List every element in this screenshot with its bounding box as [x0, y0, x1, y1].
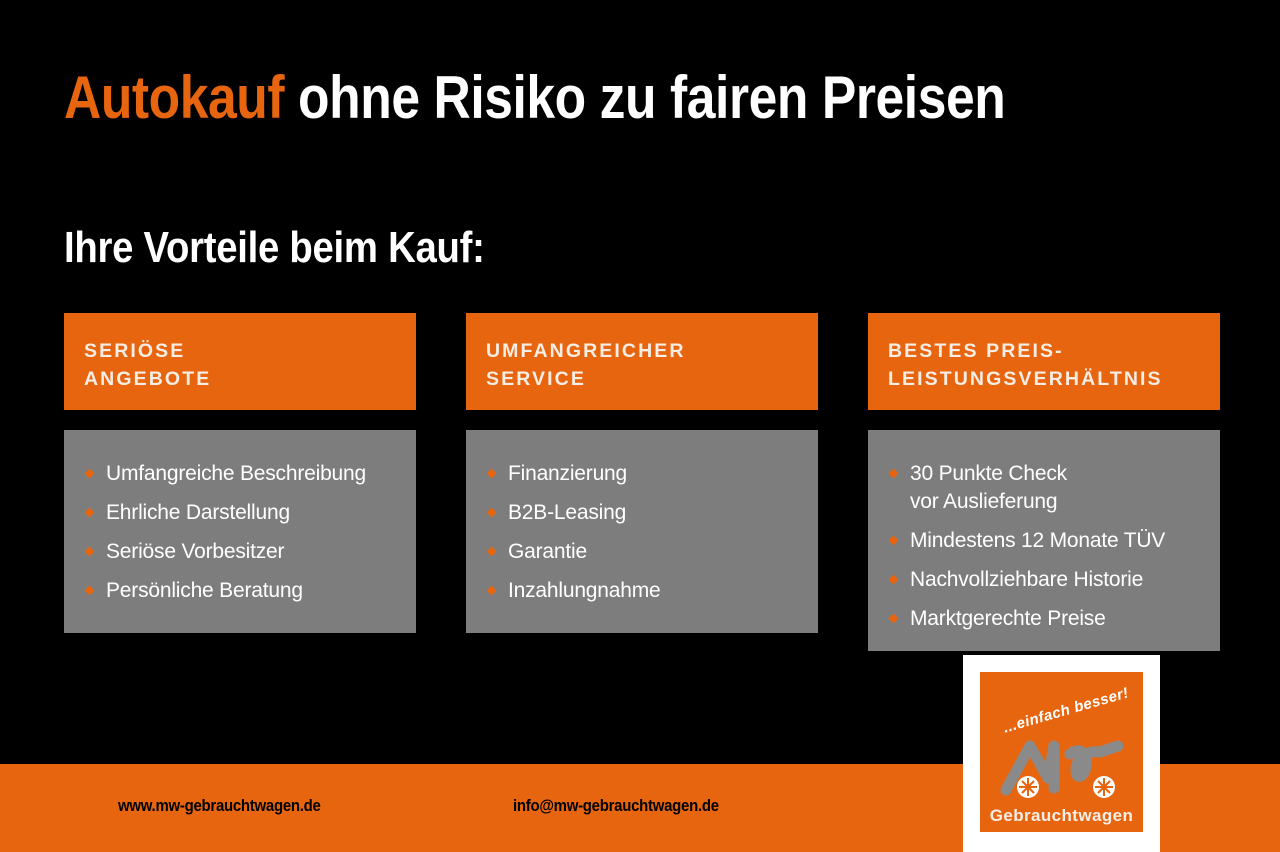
list-item: Garantie [488, 538, 802, 566]
benefit-list: 30 Punkte Check vor Auslieferung Mindest… [890, 460, 1204, 633]
list-item-label: Ehrliche Darstellung [106, 501, 290, 524]
card-body-preis-leistung: 30 Punkte Check vor Auslieferung Mindest… [868, 430, 1220, 651]
card-header-title: BESTES PREIS- LEISTUNGSVERHÄLTNIS [888, 337, 1200, 394]
card-header-umfangreicher-service: UMFANGREICHER SERVICE [466, 313, 818, 410]
logo-inner-panel: ...einfach besser! [980, 672, 1143, 832]
diamond-bullet-icon [487, 546, 497, 556]
list-item: Nachvollziehbare Historie [890, 566, 1204, 594]
promo-banner: Autokauf ohne Risiko zu fairen Preisen I… [0, 0, 1280, 852]
diamond-bullet-icon [85, 585, 95, 595]
card-body-umfangreicher-service: Finanzierung B2B-Leasing Garantie Inzahl… [466, 430, 818, 633]
list-item-label: Garantie [508, 540, 587, 563]
list-item-label: Marktgerechte Preise [910, 607, 1106, 630]
list-item: Mindestens 12 Monate TÜV [890, 527, 1204, 555]
list-item: Persönliche Beratung [86, 577, 400, 605]
diamond-bullet-icon [889, 613, 899, 623]
card-header-title: SERIÖSE ANGEBOTE [84, 337, 396, 394]
diamond-bullet-icon [889, 535, 899, 545]
diamond-bullet-icon [487, 507, 497, 517]
list-item: Ehrliche Darstellung [86, 499, 400, 527]
benefit-list: Umfangreiche Beschreibung Ehrliche Darst… [86, 460, 400, 605]
benefit-column-serioese-angebote: SERIÖSE ANGEBOTE Umfangreiche Beschreibu… [64, 313, 416, 651]
list-item: 30 Punkte Check vor Auslieferung [890, 460, 1204, 516]
list-item: B2B-Leasing [488, 499, 802, 527]
list-item: Umfangreiche Beschreibung [86, 460, 400, 488]
card-body-serioese-angebote: Umfangreiche Beschreibung Ehrliche Darst… [64, 430, 416, 633]
list-item-label: Nachvollziehbare Historie [910, 568, 1143, 591]
company-logo: ...einfach besser! [963, 655, 1160, 852]
diamond-bullet-icon [889, 469, 899, 479]
list-item-label: Seriöse Vorbesitzer [106, 540, 284, 563]
card-header-title: UMFANGREICHER SERVICE [486, 337, 798, 394]
diamond-bullet-icon [889, 574, 899, 584]
email-link[interactable]: info@mw-gebrauchtwagen.de [513, 796, 719, 816]
mw-monogram-icon [992, 732, 1132, 800]
diamond-bullet-icon [85, 469, 95, 479]
card-header-serioese-angebote: SERIÖSE ANGEBOTE [64, 313, 416, 410]
list-item: Inzahlungnahme [488, 577, 802, 605]
list-item-label: 30 Punkte Check vor Auslieferung [910, 462, 1067, 513]
headline-rest: ohne Risiko zu fairen Preisen [284, 64, 1005, 131]
benefit-column-preis-leistung: BESTES PREIS- LEISTUNGSVERHÄLTNIS 30 Pun… [868, 313, 1220, 651]
list-item: Finanzierung [488, 460, 802, 488]
benefit-columns: SERIÖSE ANGEBOTE Umfangreiche Beschreibu… [64, 313, 1218, 651]
card-header-preis-leistung: BESTES PREIS- LEISTUNGSVERHÄLTNIS [868, 313, 1220, 410]
subheading: Ihre Vorteile beim Kauf: [64, 226, 485, 270]
logo-company-name: Gebrauchtwagen [980, 806, 1143, 826]
page-title: Autokauf ohne Risiko zu fairen Preisen [64, 68, 1079, 128]
benefit-list: Finanzierung B2B-Leasing Garantie Inzahl… [488, 460, 802, 605]
website-link[interactable]: www.mw-gebrauchtwagen.de [118, 796, 321, 816]
list-item: Marktgerechte Preise [890, 605, 1204, 633]
list-item-label: B2B-Leasing [508, 501, 626, 524]
list-item-label: Mindestens 12 Monate TÜV [910, 529, 1165, 552]
diamond-bullet-icon [487, 585, 497, 595]
list-item: Seriöse Vorbesitzer [86, 538, 400, 566]
benefit-column-umfangreicher-service: UMFANGREICHER SERVICE Finanzierung B2B-L… [466, 313, 818, 651]
diamond-bullet-icon [487, 469, 497, 479]
list-item-label: Finanzierung [508, 462, 627, 485]
diamond-bullet-icon [85, 546, 95, 556]
list-item-label: Inzahlungnahme [508, 579, 661, 602]
list-item-label: Persönliche Beratung [106, 579, 303, 602]
list-item-label: Umfangreiche Beschreibung [106, 462, 366, 485]
headline-accent-word: Autokauf [64, 64, 284, 131]
logo-tagline: ...einfach besser! [996, 683, 1135, 738]
diamond-bullet-icon [85, 507, 95, 517]
